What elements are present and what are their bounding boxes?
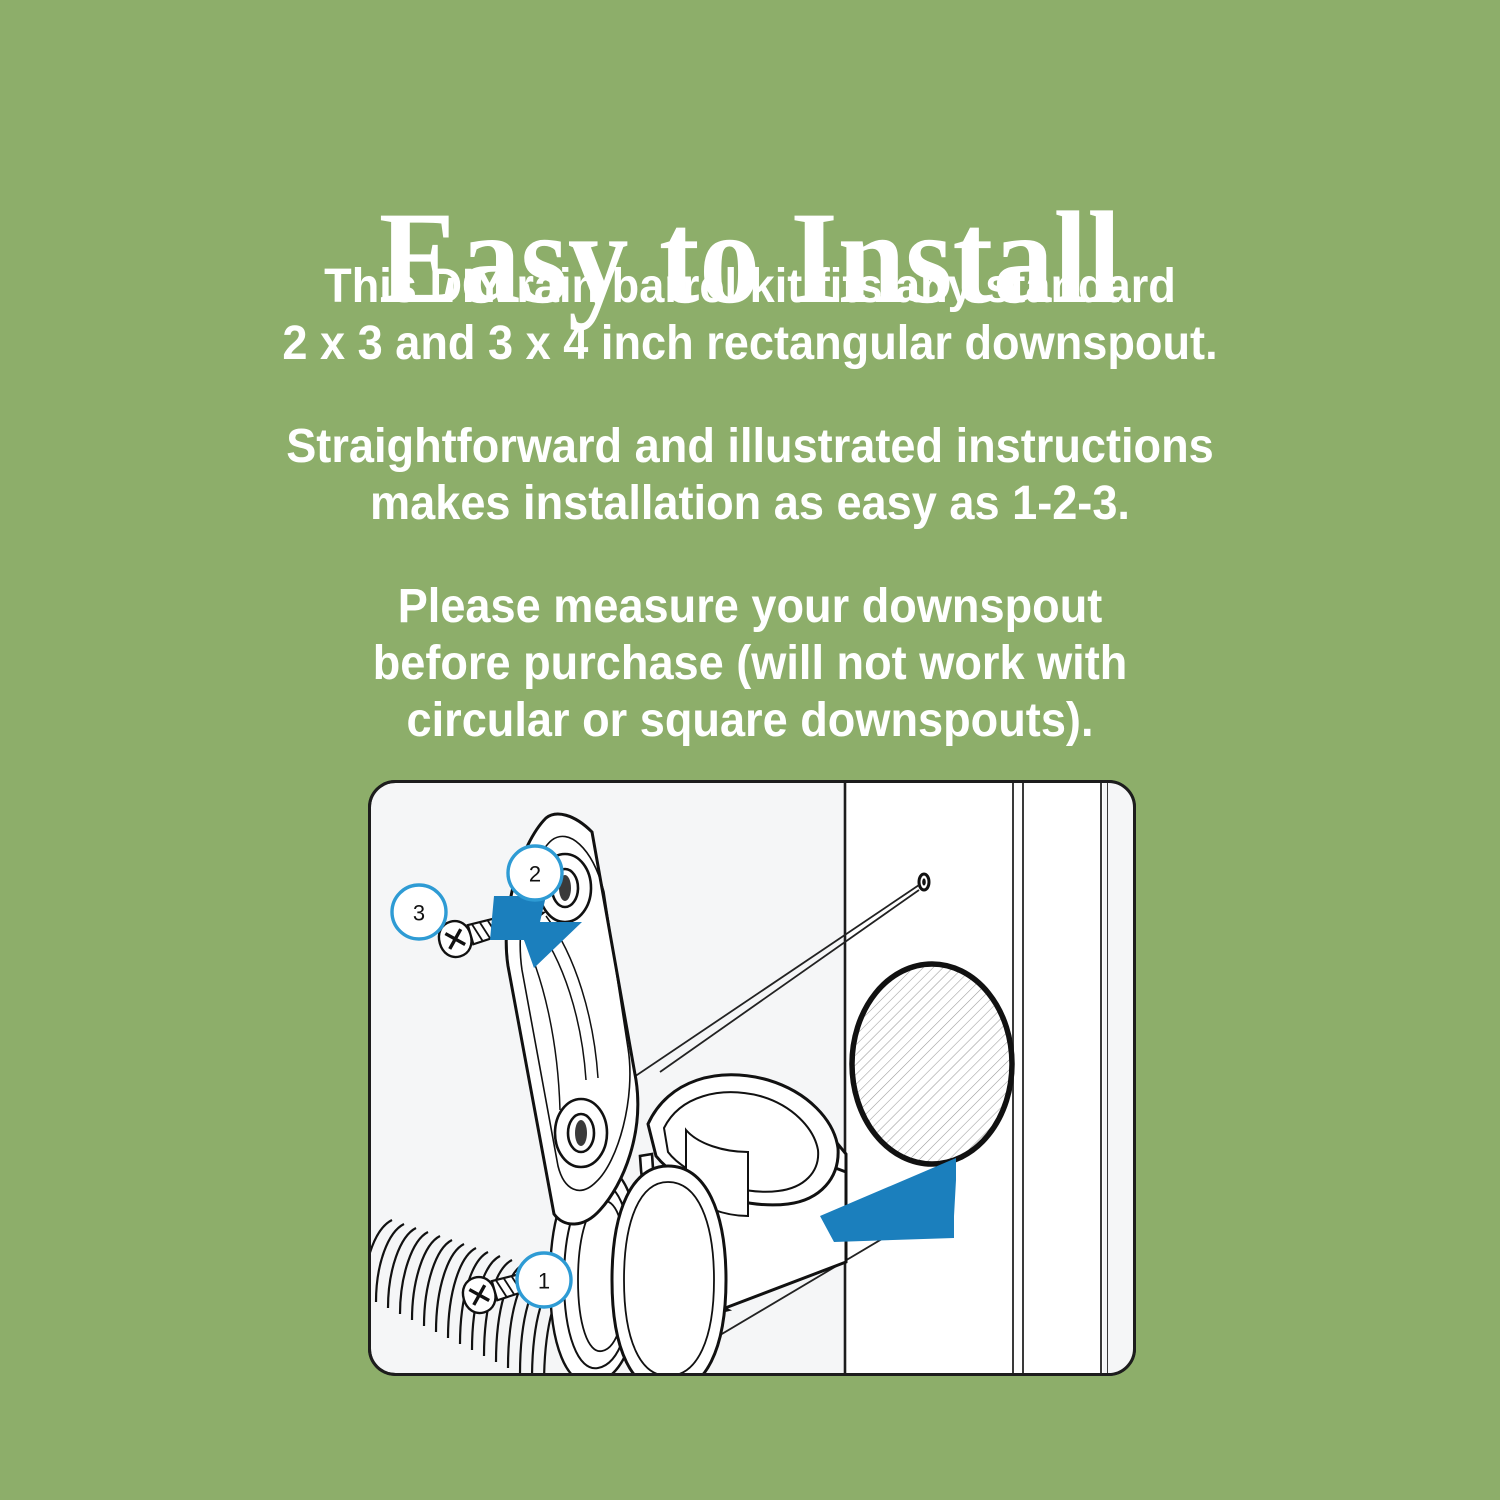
cut-hole-outline: [852, 964, 1012, 1164]
callout-badge-2-label: 2: [529, 862, 541, 887]
flange-screw-boss-lower: [555, 1099, 607, 1167]
callout-badge-2: 2: [508, 846, 562, 900]
callout-badge-1: 1: [517, 1253, 571, 1307]
callout-badge-3-label: 3: [413, 901, 425, 926]
poster-canvas: Easy to Install This DIY rain barrel kit…: [0, 0, 1500, 1500]
paragraph-line: makes installation as easy as 1-2-3.: [45, 475, 1455, 532]
paragraph-line: 2 x 3 and 3 x 4 inch rectangular downspo…: [45, 315, 1455, 372]
pilot-hole-upper: [919, 874, 929, 890]
callout-badge-3: 3: [392, 885, 446, 939]
paragraph-line: before purchase (will not work with: [45, 635, 1455, 692]
paragraph-instructions-statement: Straightforward and illustrated instruct…: [45, 418, 1455, 532]
paragraph-line: Straightforward and illustrated instruct…: [45, 418, 1455, 475]
paragraph-line: This DIY rain barrel kit fits any standa…: [45, 258, 1455, 315]
paragraph-line: Please measure your downspout: [45, 578, 1455, 635]
callout-badge-1-label: 1: [538, 1269, 550, 1294]
paragraph-line: circular or square downspouts).: [45, 692, 1455, 749]
installation-illustration-panel: 2 3 1: [368, 780, 1136, 1376]
paragraph-measure-warning: Please measure your downspout before pur…: [45, 578, 1455, 749]
paragraph-fit-statement: This DIY rain barrel kit fits any standa…: [45, 258, 1455, 372]
